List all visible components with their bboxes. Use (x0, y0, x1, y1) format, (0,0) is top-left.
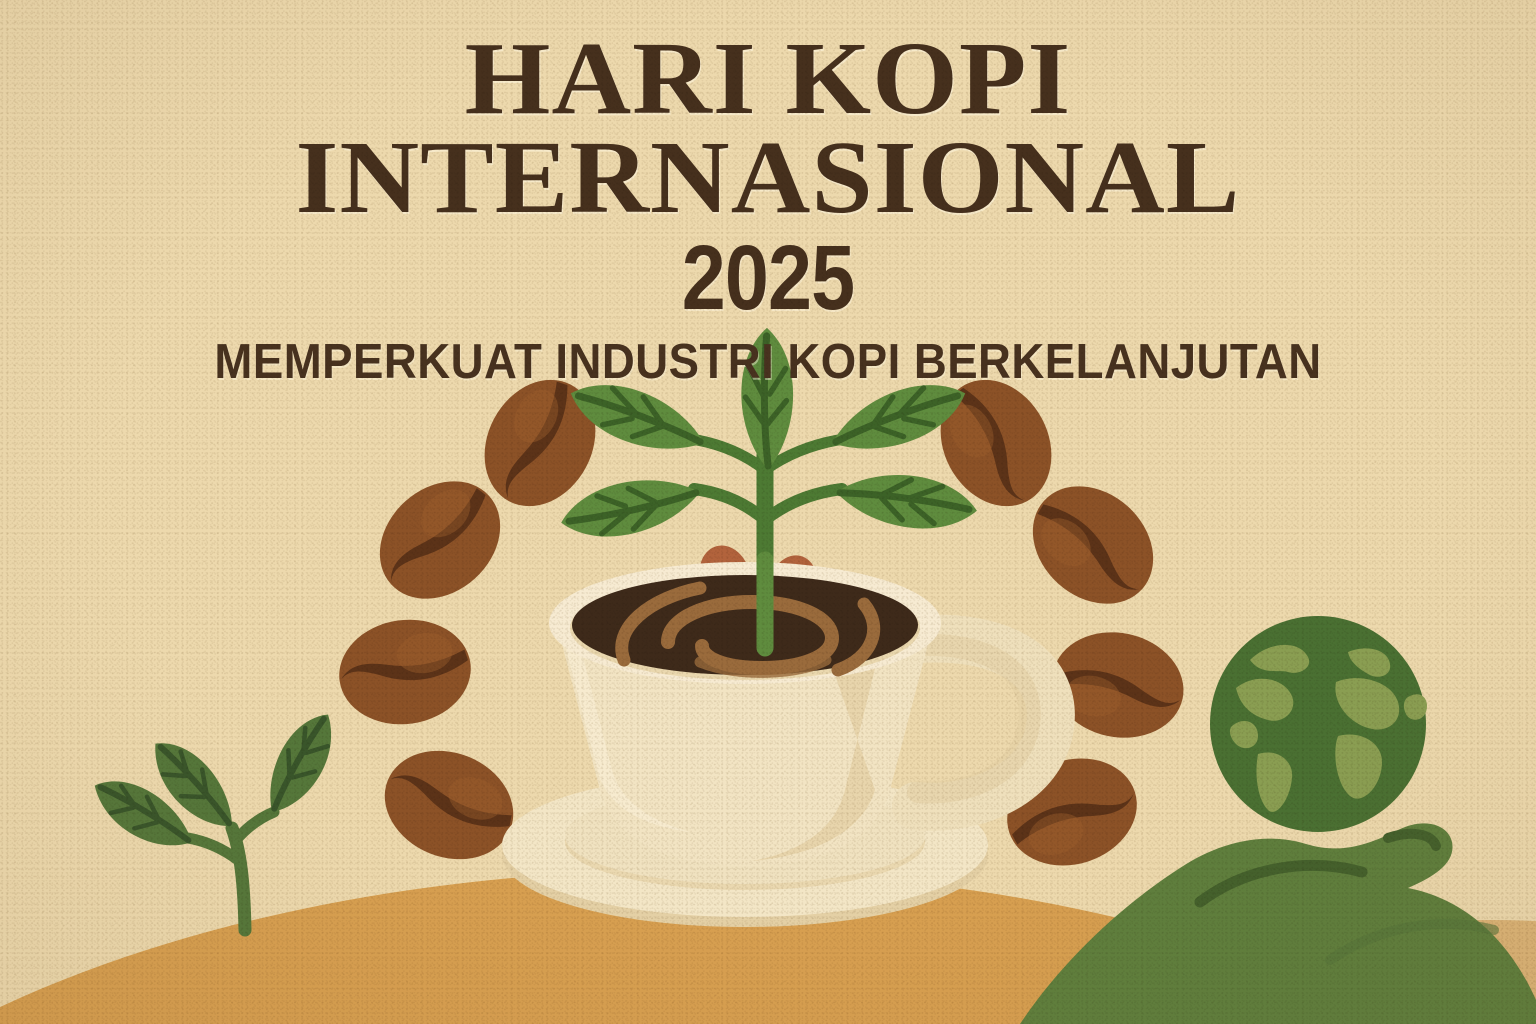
headline-block: HARI KOPI INTERNASIONAL 2025 MEMPERKUAT … (0, 0, 1536, 387)
leaf-sprig (83, 704, 352, 930)
year-label: 2025 (108, 232, 1429, 324)
globe (1210, 616, 1427, 832)
cup-handle (905, 639, 1051, 807)
coffee-bean (332, 611, 477, 732)
subtitle: MEMPERKUAT INDUSTRI KOPI BERKELANJUTAN (54, 338, 1482, 387)
poster-canvas: HARI KOPI INTERNASIONAL 2025 MEMPERKUAT … (0, 0, 1536, 1024)
sprig-leaf (249, 704, 351, 822)
plant-leaf (556, 470, 705, 546)
page-title: HARI KOPI INTERNASIONAL (0, 0, 1536, 228)
